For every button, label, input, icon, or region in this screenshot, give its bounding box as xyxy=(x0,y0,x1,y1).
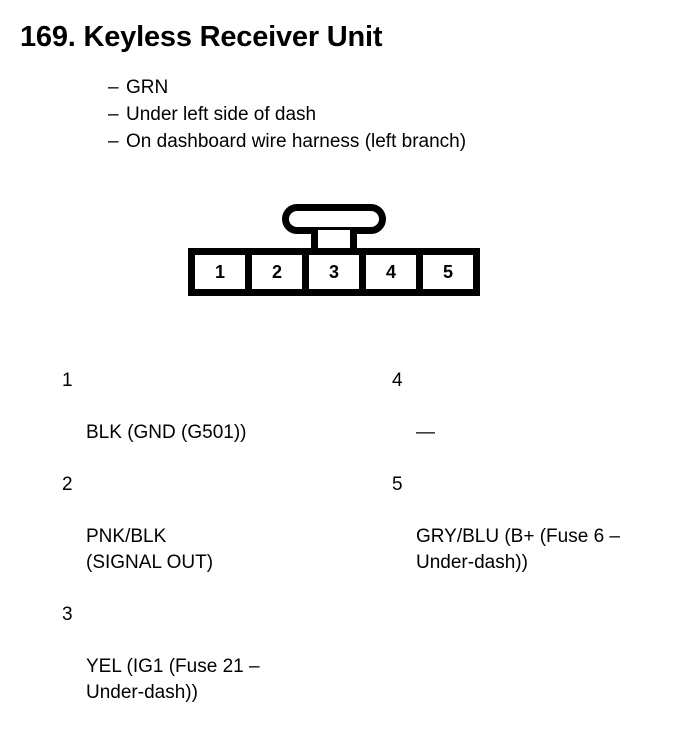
pin-legend-description: YEL (IG1 (Fuse 21 – Under-dash)) xyxy=(86,654,372,706)
note-dash-icon: – xyxy=(108,101,126,128)
pin-legend-item: 2 PNK/BLK (SIGNAL OUT) xyxy=(62,472,372,602)
note-item: –GRN xyxy=(108,74,466,101)
pin-legend-left-column: 1 BLK (GND (G501)) 2 PNK/BLK (SIGNAL OUT… xyxy=(62,368,372,732)
connector-pin-number: 2 xyxy=(272,262,282,283)
note-dash-icon: – xyxy=(108,128,126,155)
pin-legend-item: 3 YEL (IG1 (Fuse 21 – Under-dash)) xyxy=(62,602,372,732)
connector-body: 1 2 3 4 5 xyxy=(188,248,480,296)
pin-legend-number: 5 xyxy=(392,472,403,498)
pin-legend-number: 3 xyxy=(62,602,73,628)
pin-legend-number: 1 xyxy=(62,368,73,394)
pin-legend-description: — xyxy=(416,420,688,446)
connector-pin-3: 3 xyxy=(302,255,359,289)
pin-legend-description: PNK/BLK (SIGNAL OUT) xyxy=(86,524,372,576)
pin-legend-item: 1 BLK (GND (G501)) xyxy=(62,368,372,472)
connector-pin-4: 4 xyxy=(359,255,416,289)
connector-pin-number: 3 xyxy=(329,262,339,283)
connector-pin-2: 2 xyxy=(245,255,302,289)
connector-pin-number: 4 xyxy=(386,262,396,283)
pin-legend-description: BLK (GND (G501)) xyxy=(86,420,372,446)
connector-pin-number: 1 xyxy=(215,262,225,283)
note-item: –On dashboard wire harness (left branch) xyxy=(108,128,466,155)
pin-legend-number: 2 xyxy=(62,472,73,498)
note-label: On dashboard wire harness (left branch) xyxy=(126,131,466,152)
connector-pin-1: 1 xyxy=(195,255,245,289)
notes-list: –GRN –Under left side of dash –On dashbo… xyxy=(108,74,466,155)
connector-diagram: 1 2 3 4 5 xyxy=(188,204,480,296)
connector-pin-number: 5 xyxy=(443,262,453,283)
note-dash-icon: – xyxy=(108,74,126,101)
page-title: 169. Keyless Receiver Unit xyxy=(20,20,382,54)
pin-legend-item: 4 — xyxy=(392,368,688,472)
connector-pin-5: 5 xyxy=(416,255,473,289)
note-label: Under left side of dash xyxy=(126,104,316,125)
pin-legend-item: 5 GRY/BLU (B+ (Fuse 6 – Under-dash)) xyxy=(392,472,688,602)
note-item: –Under left side of dash xyxy=(108,101,466,128)
note-label: GRN xyxy=(126,77,168,98)
pin-legend-number: 4 xyxy=(392,368,403,394)
pin-legend-right-column: 4 — 5 GRY/BLU (B+ (Fuse 6 – Under-dash)) xyxy=(392,368,688,602)
pin-legend-description: GRY/BLU (B+ (Fuse 6 – Under-dash)) xyxy=(416,524,688,576)
